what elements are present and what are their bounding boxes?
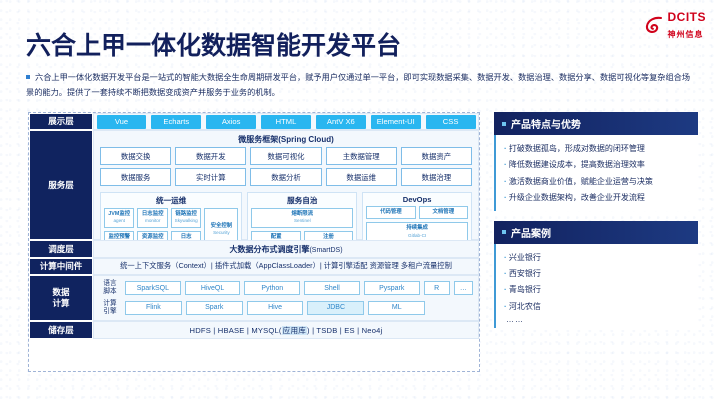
module-data-development[interactable]: 数据开发	[175, 147, 246, 165]
compute-layer-content: 语言 脚本 SparkSQL HiveQL Python Shell Pyspa…	[93, 275, 479, 321]
storage-text-post: ) | TSDB | ES | Neo4j	[307, 326, 382, 335]
module-row-2: 数据服务 实时计算 数据分析 数据运维 数据治理	[94, 168, 478, 189]
advantages-body: 打破数据孤岛，形成对数据的闭环管理 降低数据建设成本，提高数据治理效率 激活数据…	[494, 135, 698, 211]
bullet-square-icon	[26, 75, 30, 79]
tech-pill-html[interactable]: HTML	[261, 115, 311, 129]
devops-title: DevOps	[366, 195, 468, 204]
devops-doc-management[interactable]: 文档管理	[419, 206, 468, 219]
architecture-diagram: 展示层 Vue Echarts Axios HTML AntV X6 Eleme…	[28, 112, 480, 372]
middleware-text: 统一上下文服务（Context）| 插件式加载（AppClassLoader）|…	[94, 261, 478, 271]
autonomy-circuit-breaker-en: Sentinel	[294, 218, 311, 223]
engine-flink[interactable]: Flink	[125, 301, 182, 315]
script-hiveql[interactable]: HiveQL	[185, 281, 241, 295]
scheduler-name-en: (SmartDS)	[309, 247, 342, 254]
service-layer-content: 微服务框架(Spring Cloud) 数据交换 数据开发 数据可视化 主数据管…	[93, 130, 479, 240]
storage-text-highlight: 应用库	[282, 326, 307, 335]
engine-label: 计算 引擎	[99, 300, 121, 316]
unified-ops-title: 统一运维	[104, 195, 238, 206]
layer-label-compute-l2: 计算	[52, 298, 69, 309]
layer-label-compute-l1: 数据	[52, 287, 69, 298]
module-data-service[interactable]: 数据服务	[100, 168, 171, 186]
tech-pill-elementui[interactable]: Element-UI	[371, 115, 421, 129]
scheduler-name-cn: 大数据分布式调度引擎	[229, 245, 309, 254]
ops-trace-monitor-cn: 链路监控	[172, 211, 200, 218]
card-cases: 产品案例 兴业银行 西安银行 青岛银行 河北农信 ……	[494, 221, 698, 329]
script-r[interactable]: R	[424, 281, 450, 295]
ops-security-cn: 安全控制	[205, 223, 237, 230]
script-more[interactable]: …	[454, 281, 473, 295]
page-title: 六合上甲一体化数据智能开发平台	[26, 26, 401, 62]
service-layer-row: 服务层 微服务框架(Spring Cloud) 数据交换 数据开发 数据可视化 …	[29, 130, 479, 240]
cases-title: 产品案例	[511, 225, 551, 240]
module-row-1: 数据交换 数据开发 数据可视化 主数据管理 数据资产	[94, 147, 478, 168]
ops-security-en: Security	[205, 230, 237, 236]
devops-code-management-label: 代码管理	[367, 209, 414, 216]
bullet-square-icon	[502, 122, 506, 126]
storage-layer-content: HDFS | HBASE | MYSQL(应用库) | TSDB | ES | …	[93, 321, 479, 339]
script-label-l1: 语言	[103, 280, 116, 287]
ops-log-monitor-cn: 日志监控	[138, 211, 166, 218]
layer-label-service: 服务层	[29, 130, 93, 240]
layer-label-middleware: 计算中间件	[29, 258, 93, 275]
ops-jvm-monitor-en: agent	[113, 218, 125, 223]
layer-label-compute: 数据 计算	[29, 275, 93, 321]
tech-pill-css[interactable]: CSS	[426, 115, 476, 129]
compute-layer-row: 数据 计算 语言 脚本 SparkSQL HiveQL Python Shell…	[29, 275, 479, 321]
tech-pill-vue[interactable]: Vue	[97, 115, 147, 129]
subtitle-text: 六合上甲一体化数据开发平台是一站式的智能大数据全生命周期研发平台，赋予用户仅通过…	[26, 73, 690, 97]
module-data-governance[interactable]: 数据治理	[401, 168, 472, 186]
module-data-asset[interactable]: 数据资产	[401, 147, 472, 165]
case-item: 兴业银行	[504, 250, 698, 266]
side-panel: 产品特点与优势 打破数据孤岛，形成对数据的闭环管理 降低数据建设成本，提高数据治…	[494, 112, 698, 338]
engine-label-l2: 引擎	[103, 308, 116, 315]
module-data-exchange[interactable]: 数据交换	[100, 147, 171, 165]
advantage-item: 降低数据建设成本，提高数据治理效率	[504, 157, 698, 173]
case-item: 青岛银行	[504, 282, 698, 298]
service-autonomy-title: 服务自治	[251, 195, 353, 206]
layer-label-storage: 储存层	[29, 321, 93, 339]
devops-code-management[interactable]: 代码管理	[366, 206, 415, 219]
module-master-data[interactable]: 主数据管理	[326, 147, 397, 165]
advantages-header: 产品特点与优势	[494, 112, 698, 135]
ops-log-monitor-en: monitor	[145, 218, 160, 223]
script-sparksql[interactable]: SparkSQL	[125, 281, 181, 295]
script-python[interactable]: Python	[244, 281, 300, 295]
bullet-square-icon	[502, 230, 506, 234]
case-item: 西安银行	[504, 266, 698, 282]
advantage-item: 打破数据孤岛，形成对数据的闭环管理	[504, 141, 698, 157]
dcits-swirl-icon	[644, 15, 664, 35]
tech-pill-antv[interactable]: AntV X6	[316, 115, 366, 129]
devops-ci-en: Gitlab-CI	[408, 233, 426, 238]
ops-trace-monitor[interactable]: 链路监控 Skywalking	[171, 208, 201, 228]
card-advantages: 产品特点与优势 打破数据孤岛，形成对数据的闭环管理 降低数据建设成本，提高数据治…	[494, 112, 698, 211]
module-data-analysis[interactable]: 数据分析	[250, 168, 321, 186]
brand-logo: DCITS 神州信息	[644, 9, 707, 41]
middleware-layer-content: 统一上下文服务（Context）| 插件式加载（AppClassLoader）|…	[93, 258, 479, 275]
engine-jdbc[interactable]: JDBC	[307, 301, 364, 315]
cases-body: 兴业银行 西安银行 青岛银行 河北农信 ……	[494, 244, 698, 329]
autonomy-circuit-breaker-cn: 熔断限流	[252, 211, 352, 218]
devops-ci-cn: 持续集成	[367, 225, 467, 232]
module-data-visualization[interactable]: 数据可视化	[250, 147, 321, 165]
layer-label-schedule: 调度层	[29, 240, 93, 258]
ops-jvm-monitor-cn: JVM监控	[105, 211, 133, 218]
engine-line: 计算 引擎 Flink Spark Hive JDBC ML	[99, 300, 473, 316]
advantage-item: 升级企业数据架构，改善企业开发流程	[504, 190, 698, 206]
ops-log-monitor[interactable]: 日志监控 monitor	[137, 208, 167, 228]
script-pyspark[interactable]: Pyspark	[364, 281, 420, 295]
page-subtitle: 六合上甲一体化数据开发平台是一站式的智能大数据全生命周期研发平台，赋予用户仅通过…	[26, 70, 696, 100]
layer-label-presentation: 展示层	[29, 113, 93, 130]
storage-text: HDFS | HBASE | MYSQL(应用库) | TSDB | ES | …	[94, 325, 478, 336]
storage-layer-row: 储存层 HDFS | HBASE | MYSQL(应用库) | TSDB | E…	[29, 321, 479, 339]
ops-jvm-monitor[interactable]: JVM监控 agent	[104, 208, 134, 228]
case-item: 河北农信	[504, 299, 698, 315]
module-realtime-compute[interactable]: 实时计算	[175, 168, 246, 186]
brand-name-cn: 神州信息	[668, 30, 704, 39]
storage-text-pre: HDFS | HBASE | MYSQL(	[190, 326, 282, 335]
advantages-title: 产品特点与优势	[511, 116, 581, 131]
advantage-item: 激活数据商业价值，赋能企业运营与决策	[504, 174, 698, 190]
cases-more: ……	[504, 315, 698, 324]
brand-name-en: DCITS	[668, 10, 707, 24]
engine-label-l1: 计算	[103, 300, 116, 307]
middleware-layer-row: 计算中间件 统一上下文服务（Context）| 插件式加载（AppClassLo…	[29, 258, 479, 275]
schedule-layer-row: 调度层 大数据分布式调度引擎(SmartDS)	[29, 240, 479, 258]
script-label-l2: 脚本	[103, 288, 116, 295]
module-data-ops[interactable]: 数据运维	[326, 168, 397, 186]
microservice-framework-title: 微服务框架(Spring Cloud)	[94, 131, 478, 147]
script-label: 语言 脚本	[99, 280, 121, 296]
tech-pill-axios[interactable]: Axios	[206, 115, 256, 129]
presentation-items: Vue Echarts Axios HTML AntV X6 Element-U…	[93, 113, 479, 130]
schedule-layer-content: 大数据分布式调度引擎(SmartDS)	[93, 240, 479, 258]
engine-hive[interactable]: Hive	[247, 301, 304, 315]
presentation-layer-row: 展示层 Vue Echarts Axios HTML AntV X6 Eleme…	[29, 113, 479, 130]
engine-spark[interactable]: Spark	[186, 301, 243, 315]
devops-doc-management-label: 文档管理	[420, 209, 467, 216]
script-shell[interactable]: Shell	[304, 281, 360, 295]
tech-pill-echarts[interactable]: Echarts	[151, 115, 201, 129]
script-line: 语言 脚本 SparkSQL HiveQL Python Shell Pyspa…	[99, 280, 473, 296]
ops-trace-monitor-en: Skywalking	[175, 218, 198, 223]
autonomy-circuit-breaker[interactable]: 熔断限流 Sentinel	[251, 208, 353, 228]
cases-header: 产品案例	[494, 221, 698, 244]
engine-ml[interactable]: ML	[368, 301, 425, 315]
